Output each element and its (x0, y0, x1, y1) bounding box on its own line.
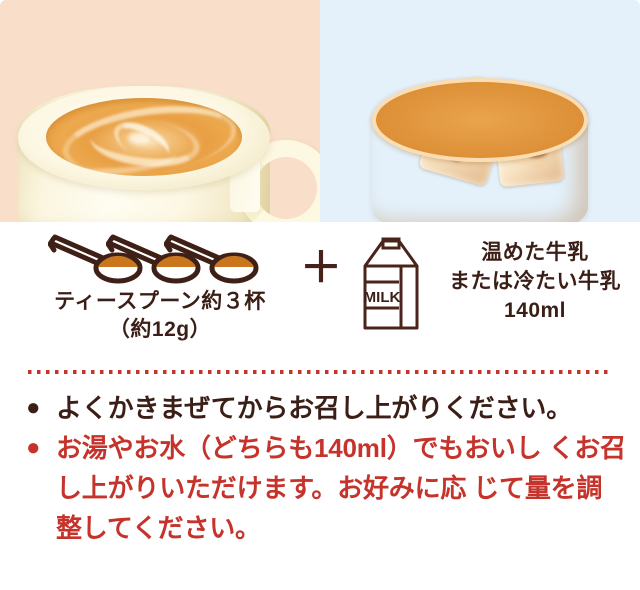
milk-carton-label: MILK (364, 289, 401, 306)
tea-swirl-center (128, 132, 150, 144)
teaspoon-block: ティースプーン約３杯 （約12g） (26, 232, 294, 344)
recipe-row: ティースプーン約３杯 （約12g） ＋ MILK (0, 232, 640, 360)
hot-drink-photo (0, 0, 320, 222)
teaspoon-icon (164, 234, 262, 286)
milk-caption-line3: 140ml (440, 296, 630, 325)
cold-drink-photo (320, 0, 640, 222)
dotted-divider (28, 370, 612, 374)
teaspoon-caption-line1: ティースプーン約３杯 (26, 288, 294, 316)
bullet-icon: ● (26, 428, 56, 468)
teaspoon-icon-group (26, 232, 294, 288)
bullet-icon: ● (26, 388, 56, 428)
note-line: よくかきまぜてからお召し上がりください。 (56, 393, 572, 423)
milk-caption-line2: または冷たい牛乳 (440, 267, 630, 296)
glass-rim (372, 78, 588, 162)
photo-strip (0, 0, 640, 222)
notes-list: ● よくかきまぜてからお召し上がりください。 ● お湯やお水（どちらも140ml… (26, 388, 626, 548)
instruction-graphic: ティースプーン約３杯 （約12g） ＋ MILK (0, 0, 640, 590)
note-item: ● お湯やお水（どちらも140ml）でもおいし くお召し上がりいただけます。お好… (26, 428, 626, 548)
milk-caption-line1: 温めた牛乳 (440, 238, 630, 267)
milk-carton-icon: MILK (355, 236, 427, 332)
plus-icon: ＋ (300, 252, 334, 286)
teaspoon-caption-line2: （約12g） (26, 316, 294, 344)
note-text: お湯やお水（どちらも140ml）でもおいし くお召し上がりいただけます。お好みに… (56, 428, 626, 548)
note-text: よくかきまぜてからお召し上がりください。 (56, 388, 626, 428)
note-item: ● よくかきまぜてからお召し上がりください。 (26, 388, 626, 428)
hot-tea-surface (46, 98, 242, 176)
note-line: お湯やお水（どちらも140ml）でもおいし (56, 433, 542, 463)
milk-caption-block: 温めた牛乳 または冷たい牛乳 140ml (440, 238, 630, 325)
